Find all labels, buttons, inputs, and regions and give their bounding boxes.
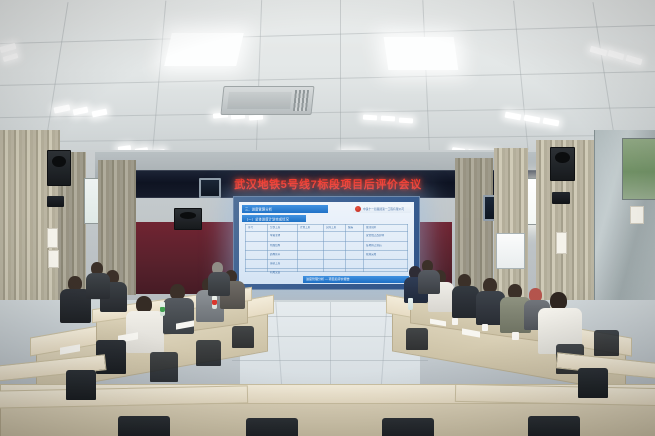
slide-subheader-bar: （一）总体进度计划完成情况 (242, 215, 306, 222)
speaker-right-upper (550, 147, 575, 181)
office-chair (66, 370, 96, 400)
projected-slide: 中铁十一局集团第一工程有限公司 三、进度管理分析 （一）总体进度计划完成情况 (239, 202, 414, 284)
attendee-body (452, 286, 479, 318)
slide-footer-bar: 进度管理分析 — 项目后评价报告 (303, 276, 409, 283)
wall-mounted-projector-mount (552, 192, 570, 204)
slide-table-cell: 车站主体 (270, 234, 280, 237)
wall-notice-left (48, 250, 59, 268)
slide-company-logo: 中铁十一局集团第一工程有限公司 (353, 205, 411, 213)
slide-table-header-cell: 实际工期 (326, 226, 336, 229)
slide-table-cell: 机电安装 (270, 271, 280, 274)
office-chair (196, 340, 221, 366)
paper-cup (452, 318, 458, 325)
wall-monitor-left (199, 178, 221, 198)
slide-table-cell: 盾构区间 (270, 253, 280, 256)
water-bottle-label (160, 307, 165, 312)
door-glass-pane (622, 138, 655, 200)
wall-notice-left (47, 228, 58, 248)
slide-table-header-cell: 计划工期 (300, 226, 310, 229)
slide-table-cell: 附属结构 (270, 244, 280, 247)
slide-table-header-cell: 偏差 (348, 226, 353, 229)
slide-table-cell: 受管线迁改影响 (366, 234, 384, 237)
wall-mounted-camera (47, 196, 64, 207)
slide-table: 序号 分部工程 计划工期 实际工期 偏差 备注说明 车站主体 受管线迁改影响 附… (245, 224, 408, 272)
office-chair (578, 368, 608, 398)
slide-table-cell: 征地拆迁滞后 (366, 244, 382, 247)
slide-table-cell: 按期完成 (366, 253, 376, 256)
slide-subheader-text: （一）总体进度计划完成情况 (245, 216, 289, 221)
ceiling-tube-light (381, 116, 395, 122)
ceiling-tube-light (363, 115, 377, 121)
slide-table-header-cell: 备注说明 (366, 226, 376, 229)
paper-cup (482, 324, 488, 331)
attendee-body (418, 270, 440, 294)
foreground-chair (528, 416, 580, 436)
whiteboard (496, 233, 525, 269)
water-bottle (408, 298, 413, 310)
speaker-left-mid (174, 208, 202, 230)
attendee-body (208, 272, 230, 296)
attendee-body (126, 311, 164, 353)
conference-room-photo: 武汉地铁5号线7标段项目后评价会议 中铁十一局集团第一工程有限公司 三、进度管理… (0, 0, 655, 436)
ceiling-tube-light (399, 118, 413, 124)
foreground-chair (246, 418, 298, 436)
wall-notice-right (556, 232, 567, 254)
paper-cup (512, 332, 519, 340)
door-notice (630, 206, 644, 224)
logo-mark-icon (355, 206, 361, 212)
office-chair (406, 328, 428, 350)
ceiling-panel-light (384, 37, 459, 70)
slide-logo-text: 中铁十一局集团第一工程有限公司 (363, 207, 404, 211)
foreground-chair (118, 416, 170, 436)
ceiling-panel-light (164, 33, 244, 66)
projection-screen: 中铁十一局集团第一工程有限公司 三、进度管理分析 （一）总体进度计划完成情况 (233, 196, 420, 290)
water-bottle-label (212, 300, 217, 305)
slide-header-text: 三、进度管理分析 (245, 207, 272, 212)
speaker-left-upper (47, 150, 71, 186)
office-chair (150, 352, 178, 382)
office-chair (232, 326, 254, 348)
led-banner-text: 武汉地铁5号线7标段项目后评价会议 (234, 176, 421, 192)
office-chair (594, 330, 619, 356)
slide-table-cell: 铺轨工程 (270, 262, 280, 265)
attendee-body (86, 273, 110, 299)
slide-footer-text: 进度管理分析 — 项目后评价报告 (306, 277, 350, 281)
slide-table-header-cell: 分部工程 (270, 226, 280, 229)
air-conditioning-vent (220, 86, 314, 115)
slide-table-header-cell: 序号 (248, 226, 253, 229)
slide-header-bar: 三、进度管理分析 (242, 205, 328, 213)
foreground-chair (382, 418, 434, 436)
